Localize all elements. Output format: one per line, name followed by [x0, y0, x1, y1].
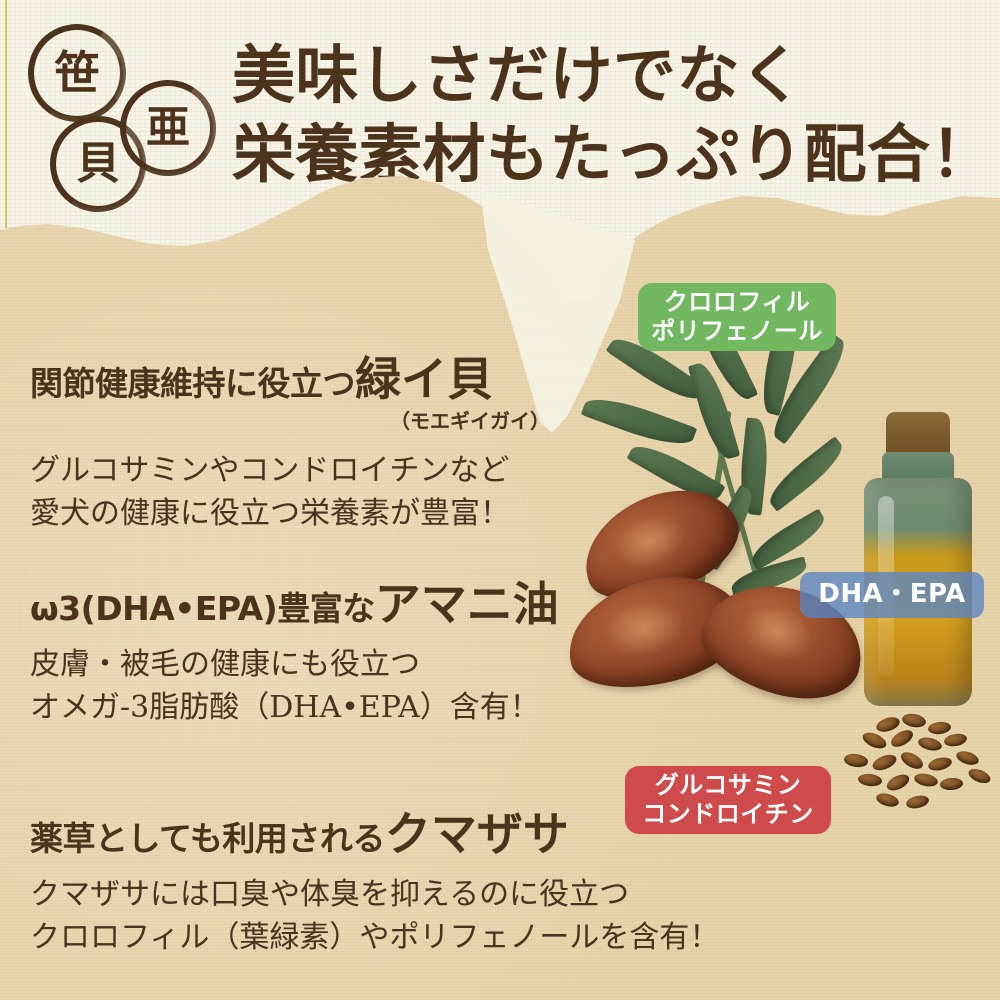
badge-line-2: ポリフェノール: [651, 317, 823, 346]
ingredient-sections: 関節健康維持に役立つ緑イ貝 （モエギイガイ） グルコサミンやコンドロイチンなど …: [0, 300, 1000, 1000]
badge-chlorophyll-polyphenol: クロロフィル ポリフェノール: [638, 283, 836, 351]
section-heading-lead: 薬草としても利用される: [30, 819, 385, 858]
section-kumazasa: 薬草としても利用されるクマザサ クマザサには口臭や体臭を抑えるのに役立つ クロロ…: [30, 810, 650, 959]
section-green-mussel: 関節健康維持に役立つ緑イ貝 （モエギイガイ） グルコサミンやコンドロイチンなど …: [30, 355, 650, 535]
section-body: クマザサには口臭や体臭を抑えるのに役立つ クロロフィル（葉緑素）やポリフェノール…: [30, 874, 650, 959]
badge-glucosamine-chondroitin: グルコサミン コンドロイチン: [625, 766, 831, 834]
section-body-line-1: 皮膚・被毛の健康にも役立つ: [30, 644, 650, 687]
section-heading-keyword: アマニ油: [375, 577, 559, 631]
stamp-kai-icon: 貝: [50, 116, 146, 212]
badge-line-1: クロロフィル: [664, 288, 811, 317]
section-heading: 関節健康維持に役立つ緑イ貝: [30, 355, 650, 403]
section-body: 皮膚・被毛の健康にも役立つ オメガ-3脂肪酸（DHA•EPA）含有！: [30, 644, 650, 729]
gold-rule-divider: [5, 0, 7, 228]
poster-canvas: 笹 亜 貝 美味しさだけでなく 栄養素材もたっぷり配合！ 関節健康維持に役立つ緑…: [0, 0, 1000, 1000]
badge-line-2: コンドロイチン: [642, 800, 814, 829]
section-body: グルコサミンやコンドロイチンなど 愛犬の健康に役立つ栄養素が豊富！: [30, 450, 650, 535]
stamp-character: 貝: [76, 142, 120, 186]
badge-line-1: グルコサミン: [655, 771, 802, 800]
section-heading: ω3(DHA•EPA)豊富なアマニ油: [30, 580, 650, 628]
section-heading-keyword: 緑イ貝: [355, 352, 493, 406]
headline-line-2: 栄養素材もたっぷり配合！: [232, 115, 972, 194]
badge-line-1: DHA・EPA: [818, 579, 966, 611]
section-heading-ruby: （モエギイガイ）: [30, 405, 550, 434]
poster-headline: 美味しさだけでなく 栄養素材もたっぷり配合！: [232, 36, 972, 195]
stamp-character: 笹: [54, 50, 100, 96]
section-heading: 薬草としても利用されるクマザサ: [30, 810, 650, 858]
section-flaxseed-oil: ω3(DHA•EPA)豊富なアマニ油 皮膚・被毛の健康にも役立つ オメガ-3脂肪…: [30, 580, 650, 729]
badge-dha-epa: DHA・EPA: [800, 572, 984, 618]
brand-stamp-group: 笹 亜 貝: [28, 24, 228, 214]
section-body-line-1: グルコサミンやコンドロイチンなど: [30, 450, 650, 493]
stamp-character: 亜: [146, 106, 190, 150]
section-heading-keyword: クマザサ: [385, 807, 569, 861]
section-heading-lead: 関節健康維持に役立つ: [30, 364, 355, 403]
section-body-line-2: クロロフィル（葉緑素）やポリフェノールを含有！: [30, 917, 650, 960]
headline-line-1: 美味しさだけでなく: [232, 36, 972, 115]
stamp-sasa-icon: 笹: [28, 24, 126, 122]
section-body-line-1: クマザサには口臭や体臭を抑えるのに役立つ: [30, 874, 650, 917]
section-body-line-2: オメガ-3脂肪酸（DHA•EPA）含有！: [30, 687, 650, 730]
section-body-line-2: 愛犬の健康に役立つ栄養素が豊富！: [30, 493, 650, 536]
section-heading-lead: ω3(DHA•EPA)豊富な: [30, 589, 375, 628]
